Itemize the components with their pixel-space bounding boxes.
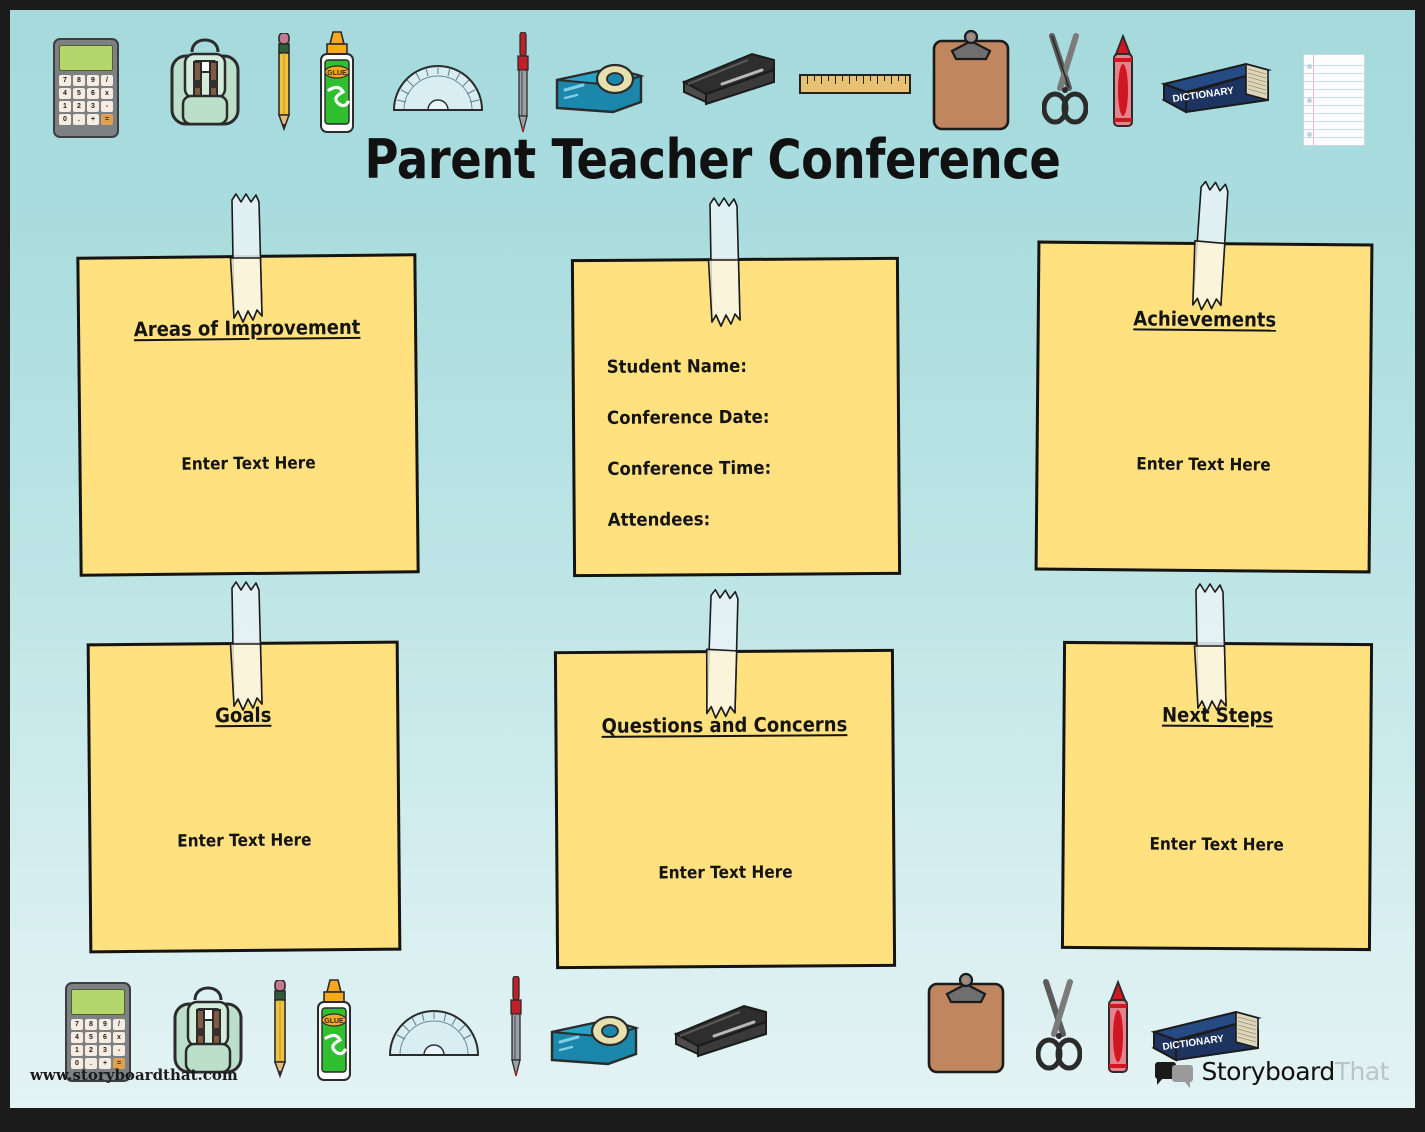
pencil-icon bbox=[272, 980, 288, 1080]
website-watermark: www.storyboardthat.com bbox=[30, 1066, 238, 1084]
calc-key: 1 bbox=[71, 1045, 83, 1056]
field-conference-time: Conference Time: bbox=[607, 458, 771, 480]
sticky-note-next-steps[interactable]: Next Steps Enter Text Here bbox=[1061, 641, 1373, 951]
paper-margin-line bbox=[1313, 55, 1314, 145]
scissors-icon bbox=[1042, 32, 1088, 124]
calc-key: - bbox=[101, 101, 113, 112]
poster-canvas: Parent Teacher Conference 7 8 9 / 4 5 6 … bbox=[0, 0, 1425, 1132]
glue-icon: GLUE bbox=[318, 30, 356, 130]
calc-key: . bbox=[73, 114, 85, 125]
calc-key: 2 bbox=[73, 101, 85, 112]
calc-key: 0 bbox=[59, 114, 71, 125]
stapler-icon bbox=[678, 50, 778, 106]
calc-key: 4 bbox=[59, 88, 71, 99]
calc-key: 7 bbox=[71, 1019, 83, 1030]
svg-text:GLUE: GLUE bbox=[324, 1018, 344, 1025]
pen-icon bbox=[515, 32, 531, 136]
calc-key: - bbox=[113, 1045, 125, 1056]
field-attendees: Attendees: bbox=[608, 509, 772, 531]
note-headline: Next Steps bbox=[1081, 702, 1355, 728]
note-body-placeholder[interactable]: Enter Text Here bbox=[1055, 454, 1352, 477]
calc-key: 8 bbox=[73, 75, 85, 86]
sticky-note-achievements[interactable]: Achievements Enter Text Here bbox=[1035, 241, 1374, 574]
tape-dispenser-icon bbox=[548, 1006, 640, 1068]
calc-key: x bbox=[101, 88, 113, 99]
calc-key: / bbox=[113, 1019, 125, 1030]
note-headline: Areas of Improvement bbox=[97, 314, 398, 341]
dictionary-icon: DICTIONARY bbox=[1150, 1008, 1262, 1062]
speech-bubbles-icon bbox=[1155, 1060, 1195, 1084]
pen-icon bbox=[508, 976, 524, 1080]
calc-key: 5 bbox=[73, 88, 85, 99]
note-headline: Achievements bbox=[1056, 306, 1353, 333]
glue-icon: GLUE bbox=[315, 978, 353, 1078]
calc-key: 8 bbox=[85, 1019, 97, 1030]
field-student-name: Student Name: bbox=[607, 356, 771, 378]
calc-key: 2 bbox=[85, 1045, 97, 1056]
calc-key: x bbox=[113, 1032, 125, 1043]
backpack-icon bbox=[173, 984, 243, 1076]
notebook-paper-icon bbox=[1303, 54, 1365, 146]
sticky-note-areas-of-improvement[interactable]: Areas of Improvement Enter Text Here bbox=[76, 253, 419, 577]
calculator-screen bbox=[59, 45, 113, 71]
scissors-icon bbox=[1036, 978, 1082, 1070]
calc-key: 6 bbox=[99, 1032, 111, 1043]
note-body-placeholder[interactable]: Enter Text Here bbox=[575, 862, 876, 884]
storyboardthat-logo[interactable]: StoryboardThat bbox=[1155, 1057, 1389, 1086]
protractor-icon bbox=[392, 60, 484, 112]
calculator-icon: 7 8 9 / 4 5 6 x 1 2 3 - 0 . + = bbox=[53, 38, 119, 138]
calculator-screen bbox=[71, 989, 125, 1015]
crayon-icon bbox=[1105, 980, 1131, 1074]
calc-key: 5 bbox=[85, 1032, 97, 1043]
calc-key: / bbox=[101, 75, 113, 86]
note-body-placeholder[interactable]: Enter Text Here bbox=[98, 452, 399, 475]
calc-key: + bbox=[87, 114, 99, 125]
page-title: Parent Teacher Conference bbox=[108, 128, 1316, 191]
student-info-fields: Student Name: Conference Date: Conferenc… bbox=[607, 356, 786, 531]
calc-key: 3 bbox=[87, 101, 99, 112]
note-body-placeholder[interactable]: Enter Text Here bbox=[107, 830, 383, 852]
note-headline: Goals bbox=[105, 702, 381, 728]
stapler-icon bbox=[670, 1002, 770, 1058]
clipboard-icon bbox=[930, 29, 1012, 129]
calc-key: 3 bbox=[99, 1045, 111, 1056]
clipboard-icon bbox=[925, 972, 1007, 1072]
ruler-icon bbox=[799, 74, 911, 94]
sticky-note-student-info[interactable]: Student Name: Conference Date: Conferenc… bbox=[571, 257, 901, 577]
calc-key: 9 bbox=[99, 1019, 111, 1030]
backpack-icon bbox=[170, 36, 240, 128]
logo-primary-text: Storyboard bbox=[1202, 1057, 1335, 1086]
tape-dispenser-icon bbox=[553, 54, 645, 116]
calc-key: 9 bbox=[87, 75, 99, 86]
calc-key: 6 bbox=[87, 88, 99, 99]
calculator-keys: 7 8 9 / 4 5 6 x 1 2 3 - 0 . + = bbox=[71, 1019, 125, 1069]
protractor-icon bbox=[388, 1005, 480, 1057]
sticky-note-questions-and-concerns[interactable]: Questions and Concerns Enter Text Here bbox=[554, 649, 896, 969]
pencil-icon bbox=[276, 33, 292, 133]
calc-key: 7 bbox=[59, 75, 71, 86]
calc-key-equals: = bbox=[101, 114, 113, 125]
sticky-note-goals[interactable]: Goals Enter Text Here bbox=[87, 641, 402, 954]
field-conference-date: Conference Date: bbox=[607, 407, 771, 429]
calc-key: 4 bbox=[71, 1032, 83, 1043]
crayon-icon bbox=[1110, 34, 1136, 128]
note-headline: Questions and Concerns bbox=[574, 712, 875, 738]
poster-background: Parent Teacher Conference 7 8 9 / 4 5 6 … bbox=[10, 10, 1415, 1108]
note-body-placeholder[interactable]: Enter Text Here bbox=[1080, 834, 1354, 856]
calc-key: 1 bbox=[59, 101, 71, 112]
dictionary-icon: DICTIONARY bbox=[1160, 60, 1272, 114]
calculator-keys: 7 8 9 / 4 5 6 x 1 2 3 - 0 . + = bbox=[59, 75, 113, 125]
logo-secondary-text: That bbox=[1335, 1057, 1389, 1086]
svg-text:GLUE: GLUE bbox=[327, 70, 347, 77]
